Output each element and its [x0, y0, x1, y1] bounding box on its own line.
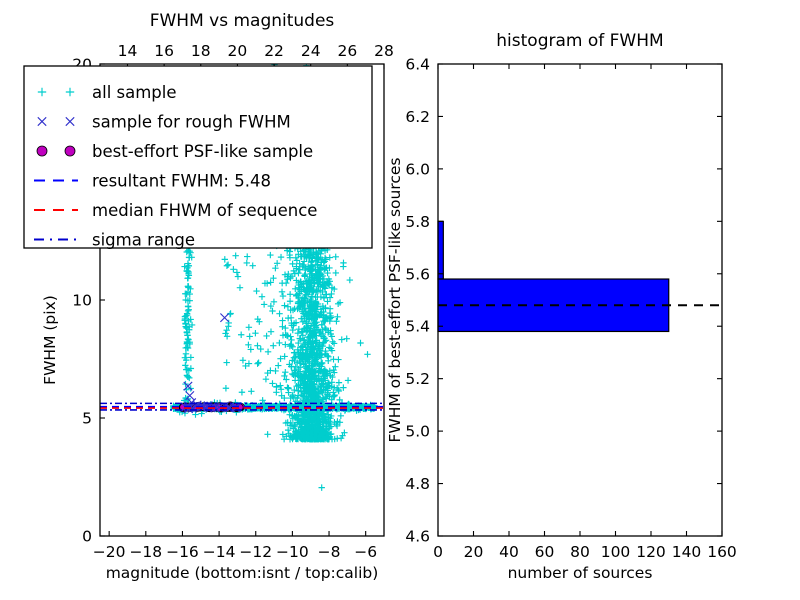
histogram-y-tick-label: 6.0 [405, 160, 430, 178]
legend-label: median FHWM of sequence [92, 201, 317, 220]
histogram-y-tick-label: 4.8 [405, 475, 430, 493]
histogram-x-tick-label: 120 [636, 543, 666, 561]
scatter-title: FWHM vs magnitudes [150, 11, 335, 31]
histogram-title: histogram of FWHM [496, 31, 663, 51]
histogram-y-tick-label: 5.6 [405, 265, 430, 283]
scatter-x-tick-label: −8 [318, 543, 341, 561]
histogram-x-tick-label: 80 [570, 543, 590, 561]
legend-label: sigma range [92, 231, 195, 250]
histogram-x-tick-label: 160 [707, 543, 737, 561]
figure-canvas: FWHM vs magnitudes −20−18−16−14−12−10−8−… [0, 0, 800, 600]
scatter-x-tick-label: −16 [166, 543, 199, 561]
histogram-y-axis-label: FWHM of best-effort PSF-like sources [386, 157, 404, 442]
histogram-x-tick-label: 0 [433, 543, 443, 561]
scatter-top-tick-label: 18 [191, 42, 211, 60]
scatter-x-tick-label: −20 [93, 543, 126, 561]
scatter-top-tick-label: 22 [264, 42, 284, 60]
legend-label: sample for rough FWHM [92, 113, 291, 132]
scatter-x-tick-label: −6 [354, 543, 377, 561]
scatter-y-axis-label: FWHM (pix) [41, 295, 59, 385]
histogram-y-tick-label: 4.6 [405, 528, 430, 546]
scatter-top-tick-label: 28 [374, 42, 394, 60]
scatter-y-tick-label: 5 [82, 410, 92, 428]
scatter-top-tick-label: 16 [154, 42, 174, 60]
histogram-x-tick-label: 40 [499, 543, 519, 561]
scatter-legend[interactable]: all samplesample for rough FWHMbest-effo… [24, 66, 372, 250]
scatter-y-tick-label: 0 [82, 528, 92, 546]
scatter-top-tick-label: 20 [228, 42, 248, 60]
legend-label: best-effort PSF-like sample [92, 142, 313, 161]
scatter-top-tick-label: 26 [337, 42, 357, 60]
histogram-y-tick-label: 6.4 [405, 56, 430, 74]
scatter-x-axis-label: magnitude (bottom:isnt / top:calib) [106, 564, 379, 582]
scatter-x-tick-label: −14 [203, 543, 236, 561]
scatter-top-tick-label: 14 [118, 42, 138, 60]
histogram-y-tick-label: 5.8 [405, 213, 430, 231]
histogram-bar [438, 221, 443, 279]
matplotlib-figure: FWHM vs magnitudes −20−18−16−14−12−10−8−… [0, 0, 800, 600]
histogram-y-tick-label: 6.2 [405, 108, 430, 126]
histogram-x-tick-label: 140 [672, 543, 702, 561]
histogram-y-tick-label: 5.2 [405, 370, 430, 388]
histogram-panel: histogram of FWHM 0204060801001201401604… [386, 31, 737, 582]
histogram-y-tick-label: 5.4 [405, 318, 430, 336]
legend-label: all sample [92, 83, 177, 102]
histogram-x-tick-label: 100 [601, 543, 631, 561]
legend-label: resultant FWHM: 5.48 [92, 172, 271, 191]
scatter-x-tick-label: −12 [239, 543, 272, 561]
histogram-y-tick-label: 5.0 [405, 423, 430, 441]
histogram-x-axis-label: number of sources [508, 564, 653, 582]
histogram-x-tick-label: 60 [535, 543, 555, 561]
scatter-x-tick-label: −10 [276, 543, 309, 561]
scatter-top-tick-label: 24 [301, 42, 321, 60]
histogram-x-tick-label: 20 [464, 543, 484, 561]
scatter-y-tick-label: 10 [72, 292, 92, 310]
scatter-x-tick-label: −18 [129, 543, 162, 561]
